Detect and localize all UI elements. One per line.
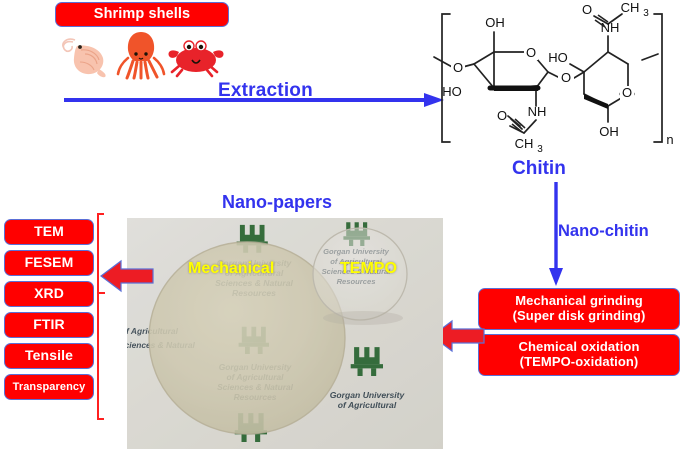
analyses-bracket (96, 213, 105, 420)
extraction-arrow-icon (64, 92, 444, 108)
svg-text:3: 3 (643, 8, 649, 19)
svg-text:O: O (453, 60, 463, 75)
source-animal-icons (55, 28, 229, 80)
process-mechanical-line1: Mechanical grinding (515, 293, 643, 308)
shrimp-shells-box: Shrimp shells (55, 2, 229, 27)
photo-label-mechanical: Mechanical (188, 260, 274, 278)
svg-text:NH: NH (528, 104, 547, 119)
process-chemical-line1: Chemical oxidation (519, 339, 640, 354)
svg-text:OH: OH (599, 124, 619, 139)
nano-papers-photo: Gorgan University of Agricultural Scienc… (127, 218, 443, 449)
svg-text:OH: OH (485, 15, 505, 30)
svg-text:CH: CH (515, 136, 534, 151)
process-mechanical-text: Mechanical grinding (Super disk grinding… (513, 294, 646, 323)
analysis-box-ftir: FTIR (4, 312, 94, 338)
nano-chitin-label: Nano-chitin (558, 222, 649, 241)
chitin-repeat-subscript: n (666, 132, 673, 147)
svg-text:CH: CH (621, 2, 640, 15)
svg-text:O: O (561, 70, 571, 85)
process-box-chemical-oxidation: Chemical oxidation (TEMPO-oxidation) (478, 334, 680, 376)
svg-text:3: 3 (537, 144, 543, 154)
svg-text:O: O (526, 45, 536, 60)
process-mechanical-line2: (Super disk grinding) (513, 308, 646, 323)
shrimp-shells-label: Shrimp shells (94, 6, 190, 22)
analysis-box-fesem: FESEM (4, 250, 94, 276)
chitin-label: Chitin (512, 158, 566, 180)
svg-text:NH: NH (601, 20, 620, 35)
analysis-box-xrd: XRD (4, 281, 94, 307)
analysis-label-ftir: FTIR (33, 317, 65, 333)
svg-text:O: O (497, 108, 507, 123)
process-chemical-text: Chemical oxidation (TEMPO-oxidation) (519, 340, 640, 369)
analysis-label-fesem: FESEM (25, 255, 74, 271)
nano-papers-label: Nano-papers (222, 192, 332, 213)
svg-text:O: O (622, 85, 632, 100)
analysis-box-tensile: Tensile (4, 343, 94, 369)
photo-label-tempo: TEMPO (340, 260, 397, 278)
analysis-label-tensile: Tensile (25, 348, 73, 364)
analysis-label-transparency: Transparency (13, 381, 86, 393)
nanopapers-to-analyses-arrow-icon (99, 258, 155, 294)
analysis-label-xrd: XRD (34, 286, 64, 302)
analysis-box-tem: TEM (4, 219, 94, 245)
svg-text:HO: HO (548, 50, 568, 65)
chitin-chemical-structure: O O O O OH HO NH O CH 3 HO OH NH (432, 2, 682, 154)
process-chemical-line2: (TEMPO-oxidation) (520, 354, 639, 369)
analysis-label-tem: TEM (34, 224, 64, 240)
process-box-mechanical-grinding: Mechanical grinding (Super disk grinding… (478, 288, 680, 330)
svg-text:O: O (582, 2, 592, 17)
analysis-box-transparency: Transparency (4, 374, 94, 400)
svg-text:HO: HO (442, 84, 462, 99)
